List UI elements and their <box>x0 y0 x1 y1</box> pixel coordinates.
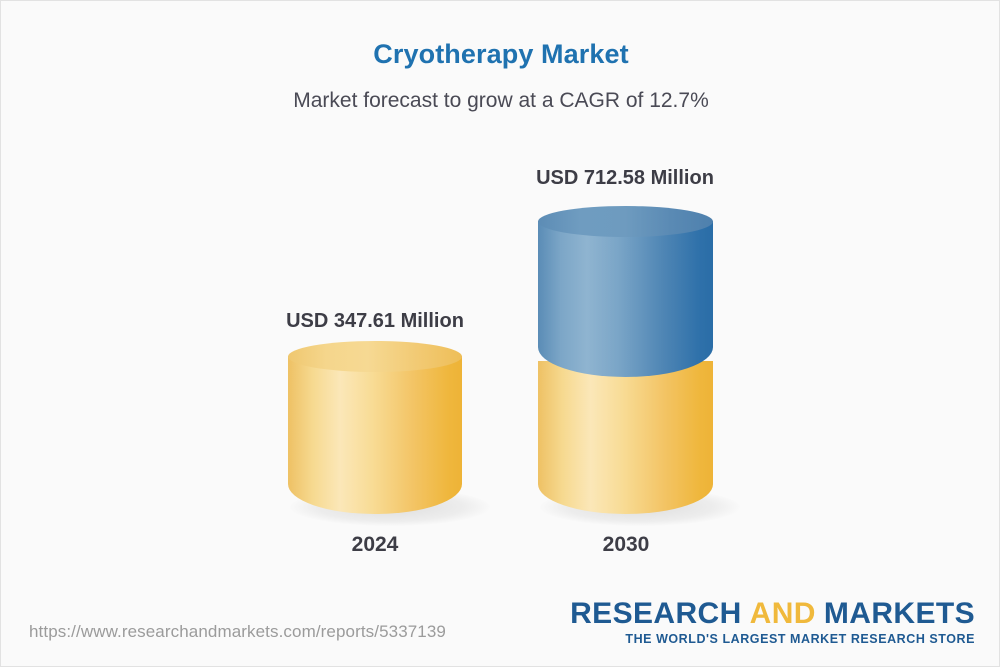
value-label-2030: USD 712.58 Million <box>455 167 795 190</box>
report-url[interactable]: https://www.researchandmarkets.com/repor… <box>29 622 446 642</box>
brand-logo[interactable]: RESEARCHANDMARKETS THE WORLD'S LARGEST M… <box>570 598 975 647</box>
bar-cap-2030[interactable] <box>538 206 713 237</box>
plot-area: USD 347.61 Million 2024 USD 712.58 Milli… <box>1 1 1000 601</box>
chart-canvas: Cryotherapy Market Market forecast to gr… <box>0 0 1000 667</box>
bar-group-2030[interactable]: USD 712.58 Million 2030 <box>1 1 1000 601</box>
brand-word-research: RESEARCH <box>570 597 742 630</box>
brand-tagline: THE WORLD'S LARGEST MARKET RESEARCH STOR… <box>570 632 975 646</box>
brand-word-markets: MARKETS <box>824 597 975 630</box>
bar-top-segment-2030[interactable] <box>538 221 713 377</box>
bar-base-segment-2030[interactable] <box>538 361 713 514</box>
brand-word-and: AND <box>750 597 816 630</box>
category-label-2030: 2030 <box>456 533 796 557</box>
brand-wordmark: RESEARCHANDMARKETS <box>570 598 975 630</box>
